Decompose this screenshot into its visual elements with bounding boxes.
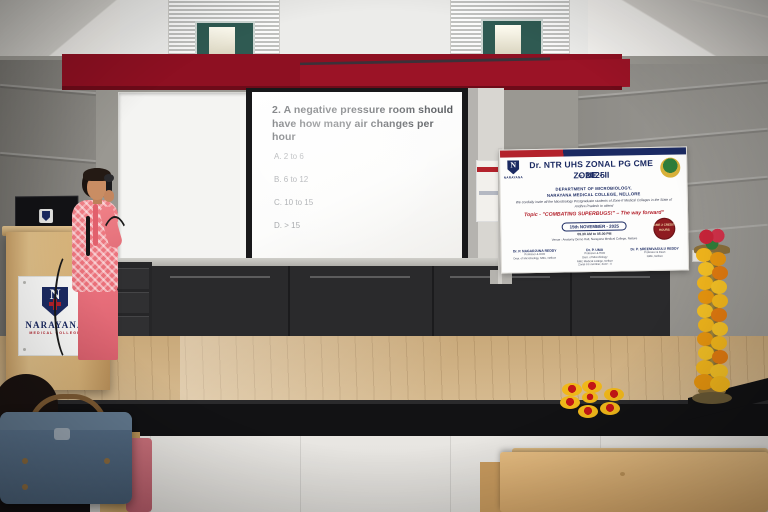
event-banner[interactable]: N NARAYANA Dr. NTR UHS ZONAL PG CME – 20… (499, 146, 689, 273)
slide-option-d: D. > 15 (274, 221, 300, 231)
banner-person-3: Dr. P. SREENIVASULU REDDY Professor & De… (626, 246, 684, 259)
banner-invitation: We cordially invite all the Microbiology… (515, 198, 673, 211)
podium-cable (54, 250, 88, 364)
mic-cable (96, 216, 134, 340)
flower-rangoli (556, 378, 628, 418)
wooden-bench[interactable] (500, 452, 768, 512)
whiteboard[interactable] (118, 92, 250, 266)
podium-gooseneck-mic[interactable] (86, 216, 90, 256)
slide-option-b: B. 6 to 12 (274, 175, 308, 185)
banner-topic: Topic - "COMBATING SUPERBUGS!" – The way… (509, 210, 679, 219)
banner-person-1: Dr. P. NAGARJUNA REDDY Professor & HOD D… (506, 249, 564, 262)
conference-hall-photo: 2. A negative pressure room should have … (0, 0, 768, 512)
lamp-top-flowers (698, 228, 726, 250)
handbag-clasp[interactable] (54, 428, 70, 440)
ac-vent-right (450, 0, 570, 54)
projection-screen[interactable]: 2. A negative pressure room should have … (252, 92, 462, 260)
banner-logo-text: NARAYANA (502, 175, 524, 179)
person-role: Professor & Dean NMC, Nellore (626, 251, 684, 259)
shield-letter: N (504, 160, 522, 169)
laptop-sticker (39, 209, 53, 223)
sticker-shield-icon (42, 211, 50, 221)
banner-person-2: Dr. P. UMA Professor & HOD Dept. of Micr… (566, 247, 624, 267)
person-role: Professor & HOD Dept. of Microbiology, N… (506, 253, 564, 261)
ac-vent-left (168, 0, 280, 54)
slide-question: 2. A negative pressure room should have … (272, 104, 454, 145)
slide-option-c: C. 10 to 15 (274, 198, 313, 208)
presenter-kurta-placket (93, 204, 98, 246)
banner-top-bar (500, 147, 686, 157)
wall-cabinets[interactable] (150, 266, 670, 342)
university-emblem-icon (660, 157, 680, 177)
marigold-garland (694, 248, 732, 398)
vent-lamp (495, 25, 521, 55)
person-role: Professor & HOD Dept. of Microbiology NM… (566, 252, 624, 267)
presenter-hand (104, 190, 114, 202)
microphone-head (104, 174, 114, 182)
slide-option-a: A. 2 to 6 (274, 152, 304, 162)
banner-narayana-logo: N NARAYANA (504, 160, 522, 180)
vent-lamp (209, 27, 235, 55)
banner-date: 15th NOVEMBER - 2025 (562, 221, 627, 231)
